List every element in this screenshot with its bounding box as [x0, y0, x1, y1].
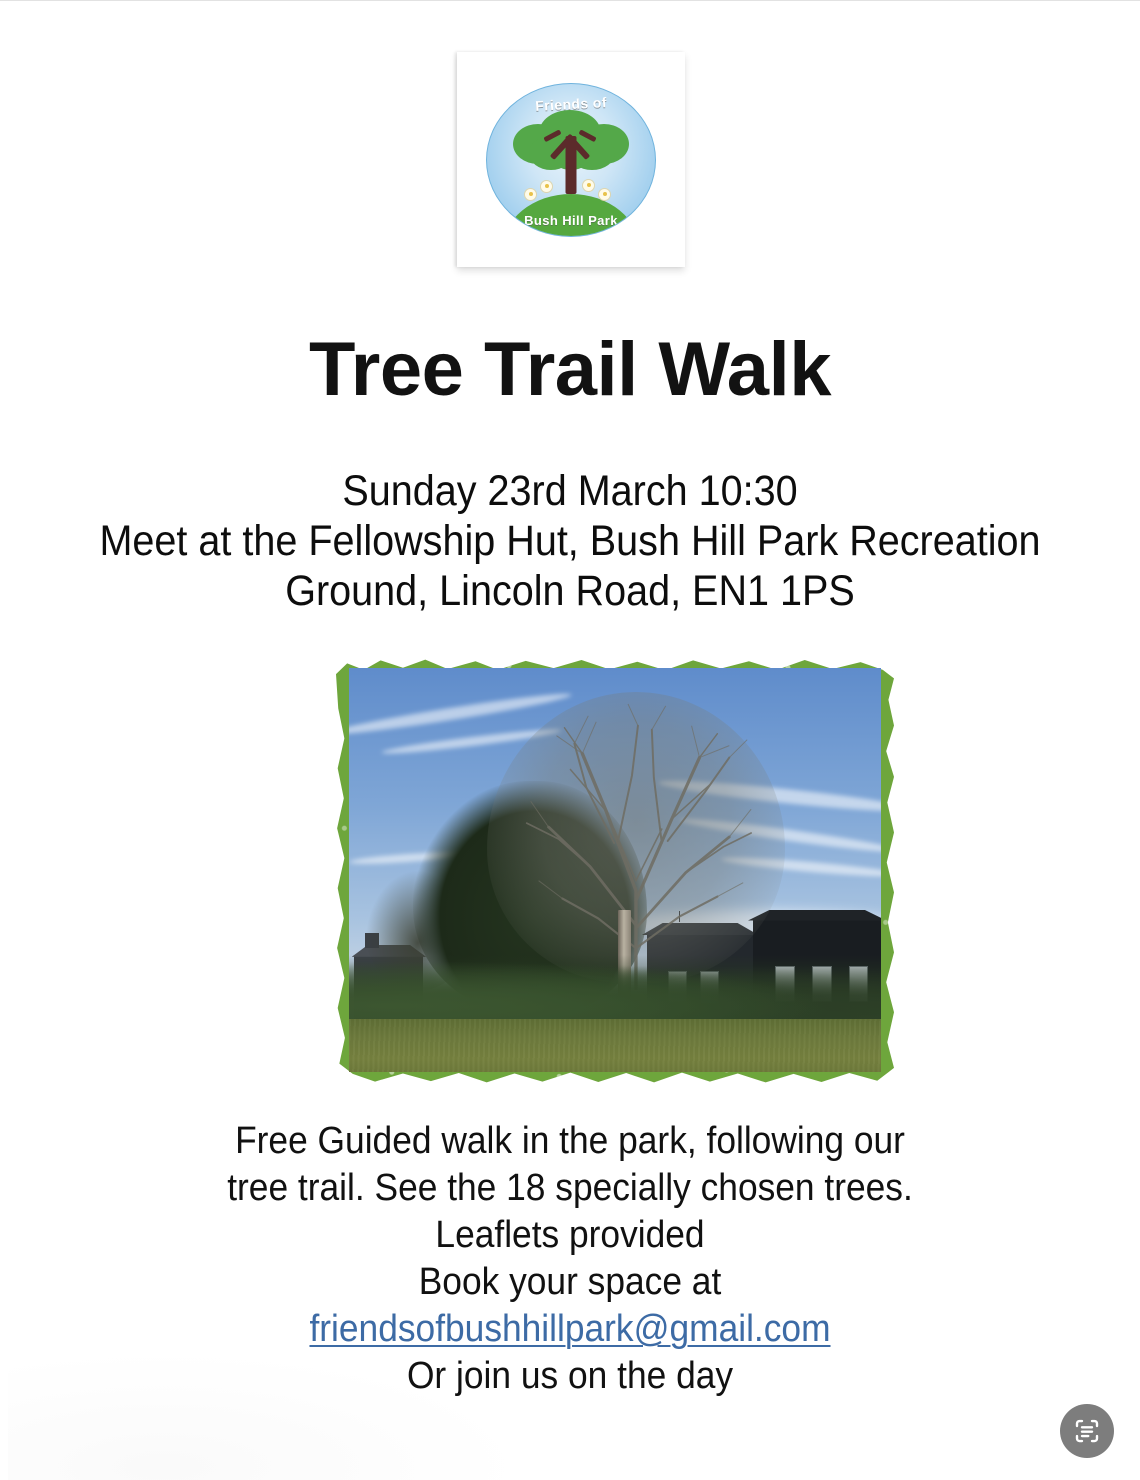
- booking-email-link[interactable]: friendsofbushhillpark@gmail.com: [309, 1308, 830, 1350]
- photo-grass: [349, 1019, 881, 1072]
- photo-image: [349, 668, 881, 1072]
- scan-text-icon: [1072, 1416, 1102, 1446]
- photo-tree-branches: [487, 692, 785, 990]
- photo-bare-tree-crown: [487, 692, 785, 983]
- body-line-3: Leaflets provided: [40, 1212, 1100, 1259]
- page-title: Tree Trail Walk: [0, 327, 1140, 413]
- logo-flower-icon: [583, 180, 594, 191]
- photo-hedgerow: [349, 955, 881, 1028]
- logo-flower-icon: [525, 189, 536, 200]
- scan-text-button[interactable]: [1060, 1404, 1114, 1458]
- event-location-line-1: Meet at the Fellowship Hut, Bush Hill Pa…: [46, 516, 1095, 566]
- logo-tree-trunk: [566, 136, 577, 194]
- body-line-1: Free Guided walk in the park, following …: [40, 1118, 1100, 1165]
- logo-flower-icon: [599, 189, 610, 200]
- logo-flower-icon: [541, 181, 552, 192]
- poster-photo: [336, 657, 894, 1085]
- organisation-logo-card: Friends of Bush Hill Park: [457, 52, 685, 267]
- poster: Friends of Bush Hill Park Tree Trail Wal…: [0, 0, 1140, 1480]
- logo-text-bottom: Bush Hill Park: [487, 213, 655, 228]
- poster-body-copy: Free Guided walk in the park, following …: [40, 1118, 1100, 1400]
- event-details: Sunday 23rd March 10:30 Meet at the Fell…: [46, 466, 1095, 616]
- event-date-time: Sunday 23rd March 10:30: [46, 466, 1095, 516]
- body-line-4: Book your space at: [40, 1259, 1100, 1306]
- event-location-line-2: Ground, Lincoln Road, EN1 1PS: [46, 566, 1095, 616]
- friends-of-bush-hill-park-logo-icon: Friends of Bush Hill Park: [486, 83, 656, 237]
- body-line-2: tree trail. See the 18 specially chosen …: [40, 1165, 1100, 1212]
- body-line-6: Or join us on the day: [40, 1353, 1100, 1400]
